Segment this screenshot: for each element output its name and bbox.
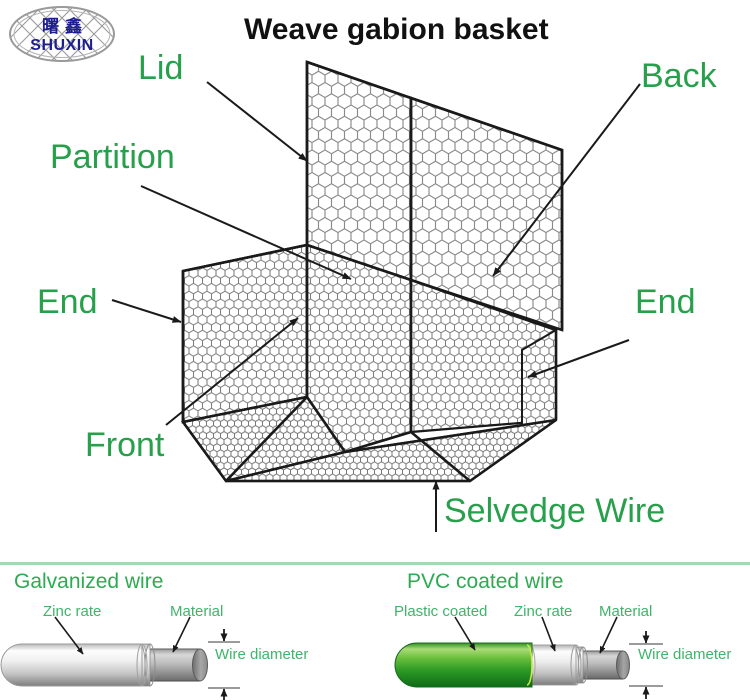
pvc-coated-wire-panel: PVC coated wire Plastic coated Zinc rate…: [375, 565, 750, 700]
galvanized-wire-panel: Galvanized wire Zinc rate Material Wire …: [0, 565, 375, 700]
galvanized-wire-body: [1, 644, 147, 686]
callout-end-left: End: [37, 285, 98, 319]
callout-partition: Partition: [50, 140, 175, 174]
gabion-basket-infographic: 曙 鑫 SHUXIN Weave gabion basket: [0, 0, 750, 700]
pvc-wire-diameter-dimension: [629, 631, 663, 699]
wire-diameter-dimension: [208, 629, 240, 700]
lid-panel: [307, 62, 411, 280]
callout-end-right: End: [635, 285, 696, 319]
pvc-zinc-sleeve: [525, 645, 581, 685]
galvanized-core-cylinder: [148, 649, 208, 681]
callout-front: Front: [85, 428, 164, 462]
leader-material: [173, 617, 190, 652]
pvc-plastic-body: [395, 643, 532, 687]
callout-selvedge-wire: Selvedge Wire: [444, 494, 665, 528]
galvanized-wire-drawing: [0, 565, 375, 700]
pvc-core-cylinder: [582, 651, 630, 679]
leader-lid: [207, 82, 307, 161]
leader-pvc-material: [600, 617, 617, 653]
callout-back: Back: [641, 59, 717, 93]
callout-lid: Lid: [138, 51, 183, 85]
gabion-basket-drawing: [0, 0, 750, 563]
leader-end-left: [112, 300, 181, 322]
pvc-wire-drawing: [375, 565, 750, 700]
